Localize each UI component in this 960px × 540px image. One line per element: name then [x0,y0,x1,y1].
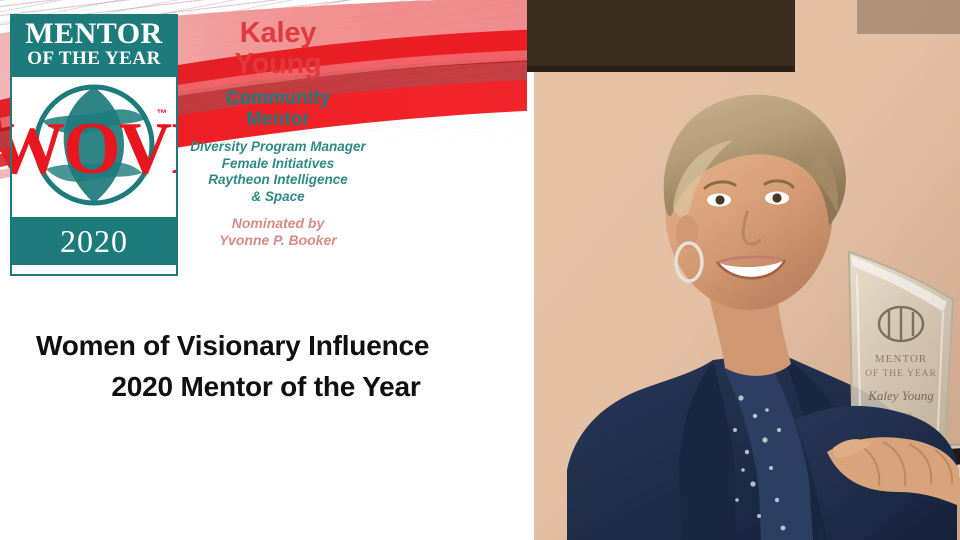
honoree-affiliation-line1: Diversity Program Manager [178,139,378,155]
nominator-name: Yvonne P. Booker [178,232,378,249]
svg-text:WOVI: WOVI [12,108,176,190]
honoree-name: Kaley Young [178,18,378,81]
svg-text:OF THE YEAR: OF THE YEAR [865,369,937,379]
honoree-role-line1: Community [178,88,378,109]
award-slide: MENTOR OF THE YEAR WOVI ™ 2020 Kaley You… [0,0,960,540]
logo-year: 2020 [12,219,176,265]
caption-line-1: Women of Visionary Influence [36,326,496,367]
honoree-affiliation-line4: & Space [178,189,378,205]
honoree-role-line2: Mentor [178,109,378,130]
svg-text:™: ™ [157,108,168,120]
logo-mentor-text: MENTOR [12,19,176,49]
honoree-nomination: Nominated by Yvonne P. Booker [178,215,378,250]
honoree-affiliation: Diversity Program Manager Female Initiat… [178,139,378,205]
honoree-affiliation-line2: Female Initiatives [178,156,378,172]
honoree-role: Community Mentor [178,88,378,131]
svg-text:MENTOR: MENTOR [875,353,927,365]
svg-text:Kaley Young: Kaley Young [867,388,934,403]
honoree-first-name: Kaley [178,18,378,49]
logo-of-the-year-text: OF THE YEAR [12,49,176,69]
slide-caption: Women of Visionary Influence 2020 Mentor… [36,326,496,407]
honoree-affiliation-line3: Raytheon Intelligence [178,172,378,188]
wovi-logo: MENTOR OF THE YEAR WOVI ™ 2020 [10,14,178,276]
honoree-details: Kaley Young Community Mentor Diversity P… [178,18,378,250]
nominated-by-label: Nominated by [178,215,378,232]
logo-header: MENTOR OF THE YEAR [12,16,176,75]
logo-globe-wordmark: WOVI ™ [12,75,176,219]
honoree-photo: MENTOR OF THE YEAR Kaley Young 2020 [527,0,960,540]
caption-line-2: 2020 Mentor of the Year [36,367,496,408]
honoree-last-name: Young [178,49,378,80]
